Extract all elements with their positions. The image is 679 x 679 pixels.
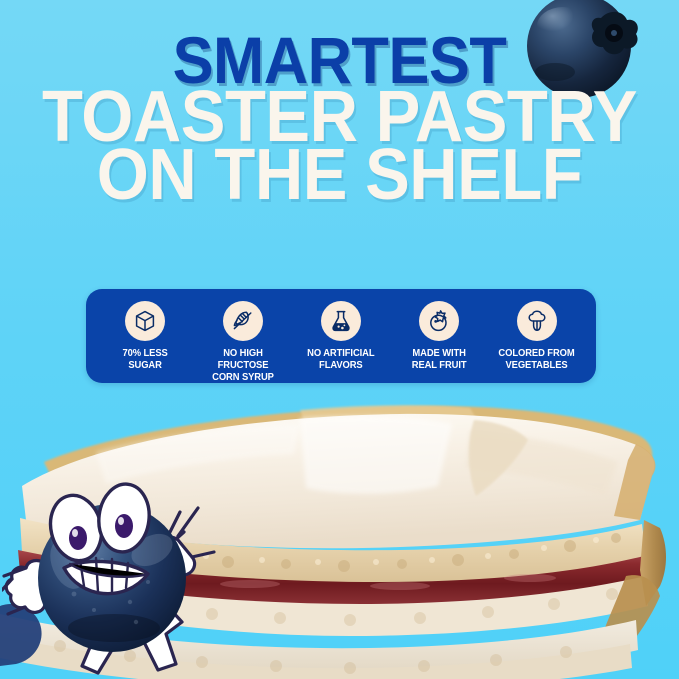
broccoli-icon (517, 301, 557, 341)
badge-no-corn-syrup: NO HIGH FRUCTOSE CORN SYRUP (194, 301, 292, 383)
badge-label: COLORED FROM VEGETABLES (499, 348, 575, 372)
no-corn-icon (223, 301, 263, 341)
badge-no-artificial-flavors: NO ARTIFICIAL FLAVORS (292, 301, 390, 372)
badge-less-sugar: 70% LESS SUGAR (96, 301, 194, 372)
flask-icon (321, 301, 361, 341)
badge-colored-from-vegetables: COLORED FROM VEGETABLES (488, 301, 586, 372)
badge-label: NO HIGH FRUCTOSE CORN SYRUP (199, 348, 287, 383)
headline-line-3: ON THE SHELF (24, 147, 655, 205)
benefits-badge-bar: 70% LESS SUGAR NO HIGH FRUCTOSE CORN SYR… (86, 289, 596, 383)
badge-label: 70% LESS SUGAR (122, 348, 167, 372)
page-title: SMARTEST TOASTER PASTRY ON THE SHELF (0, 34, 679, 205)
badge-label: NO ARTIFICIAL FLAVORS (307, 348, 374, 372)
badge-label: MADE WITH REAL FRUIT (412, 348, 467, 372)
blueberry-icon (419, 301, 459, 341)
promo-banner: SMARTEST TOASTER PASTRY ON THE SHELF 70%… (0, 0, 679, 679)
badge-real-fruit: MADE WITH REAL FRUIT (390, 301, 488, 372)
sugar-cube-icon (125, 301, 165, 341)
blueberry-mascot-character (2, 452, 242, 679)
